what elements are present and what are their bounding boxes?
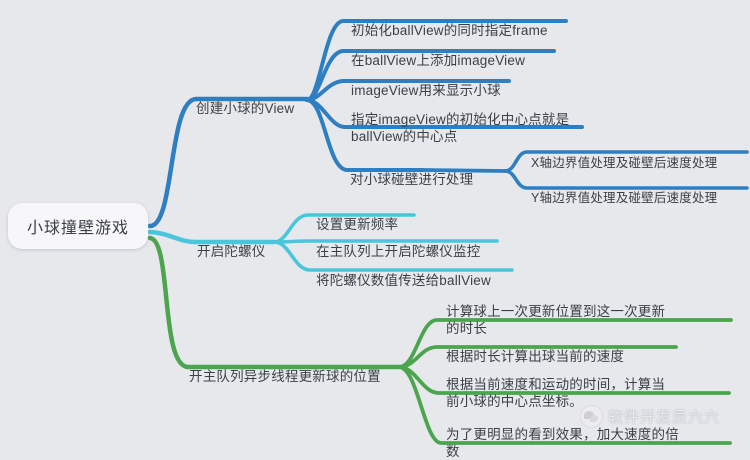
- node-y-axis-boundary-label: Y轴边界值处理及碰壁后速度处理: [531, 191, 717, 205]
- node-x-axis-boundary-label: X轴边界值处理及碰壁后速度处理: [531, 156, 717, 170]
- node-gyroscope[interactable]: 开启陀螺仪: [197, 226, 266, 260]
- node-send-gyroscope-to-ballview[interactable]: 将陀螺仪数值传送给ballView: [316, 255, 491, 289]
- node-x-axis-boundary[interactable]: X轴边界值处理及碰壁后速度处理: [531, 138, 717, 172]
- node-update-position-label: 开主队列异步线程更新球的位置: [189, 369, 381, 384]
- node-create-view-label: 创建小球的View: [196, 101, 294, 116]
- node-init-ballview-frame[interactable]: 初始化ballView的同时指定frame: [351, 5, 548, 39]
- node-collision-handling[interactable]: 对小球碰壁进行处理: [350, 154, 473, 188]
- root-node[interactable]: 小球撞壁游戏: [8, 203, 148, 249]
- node-collision-handling-label: 对小球碰壁进行处理: [350, 172, 473, 187]
- node-y-axis-boundary[interactable]: Y轴边界值处理及碰壁后速度处理: [531, 173, 717, 207]
- node-compute-center-coordinate[interactable]: 根据当前速度和运动的时间，计算当 前小球的中心点坐标。: [446, 359, 665, 410]
- mindmap-canvas: 小球撞壁游戏 创建小球的View 初始化ballView的同时指定frame 在…: [0, 0, 750, 451]
- root-node-label: 小球撞壁游戏: [27, 214, 129, 238]
- node-add-imageview[interactable]: 在ballView上添加imageView: [351, 35, 525, 69]
- node-amplify-speed-multiplier-label: 为了更明显的看到效果，加大速度的倍 数: [446, 427, 679, 459]
- node-compute-update-duration[interactable]: 计算球上一次更新位置到这一次更新 的时长: [446, 286, 665, 337]
- node-gyroscope-label: 开启陀螺仪: [197, 244, 266, 259]
- node-compute-center-coordinate-label: 根据当前速度和运动的时间，计算当 前小球的中心点坐标。: [446, 377, 665, 409]
- edge-root-to-create-view: [150, 99, 307, 226]
- node-amplify-speed-multiplier[interactable]: 为了更明显的看到效果，加大速度的倍 数: [446, 409, 679, 460]
- node-create-view[interactable]: 创建小球的View: [196, 83, 294, 117]
- node-update-position[interactable]: 开主队列异步线程更新球的位置: [189, 351, 381, 385]
